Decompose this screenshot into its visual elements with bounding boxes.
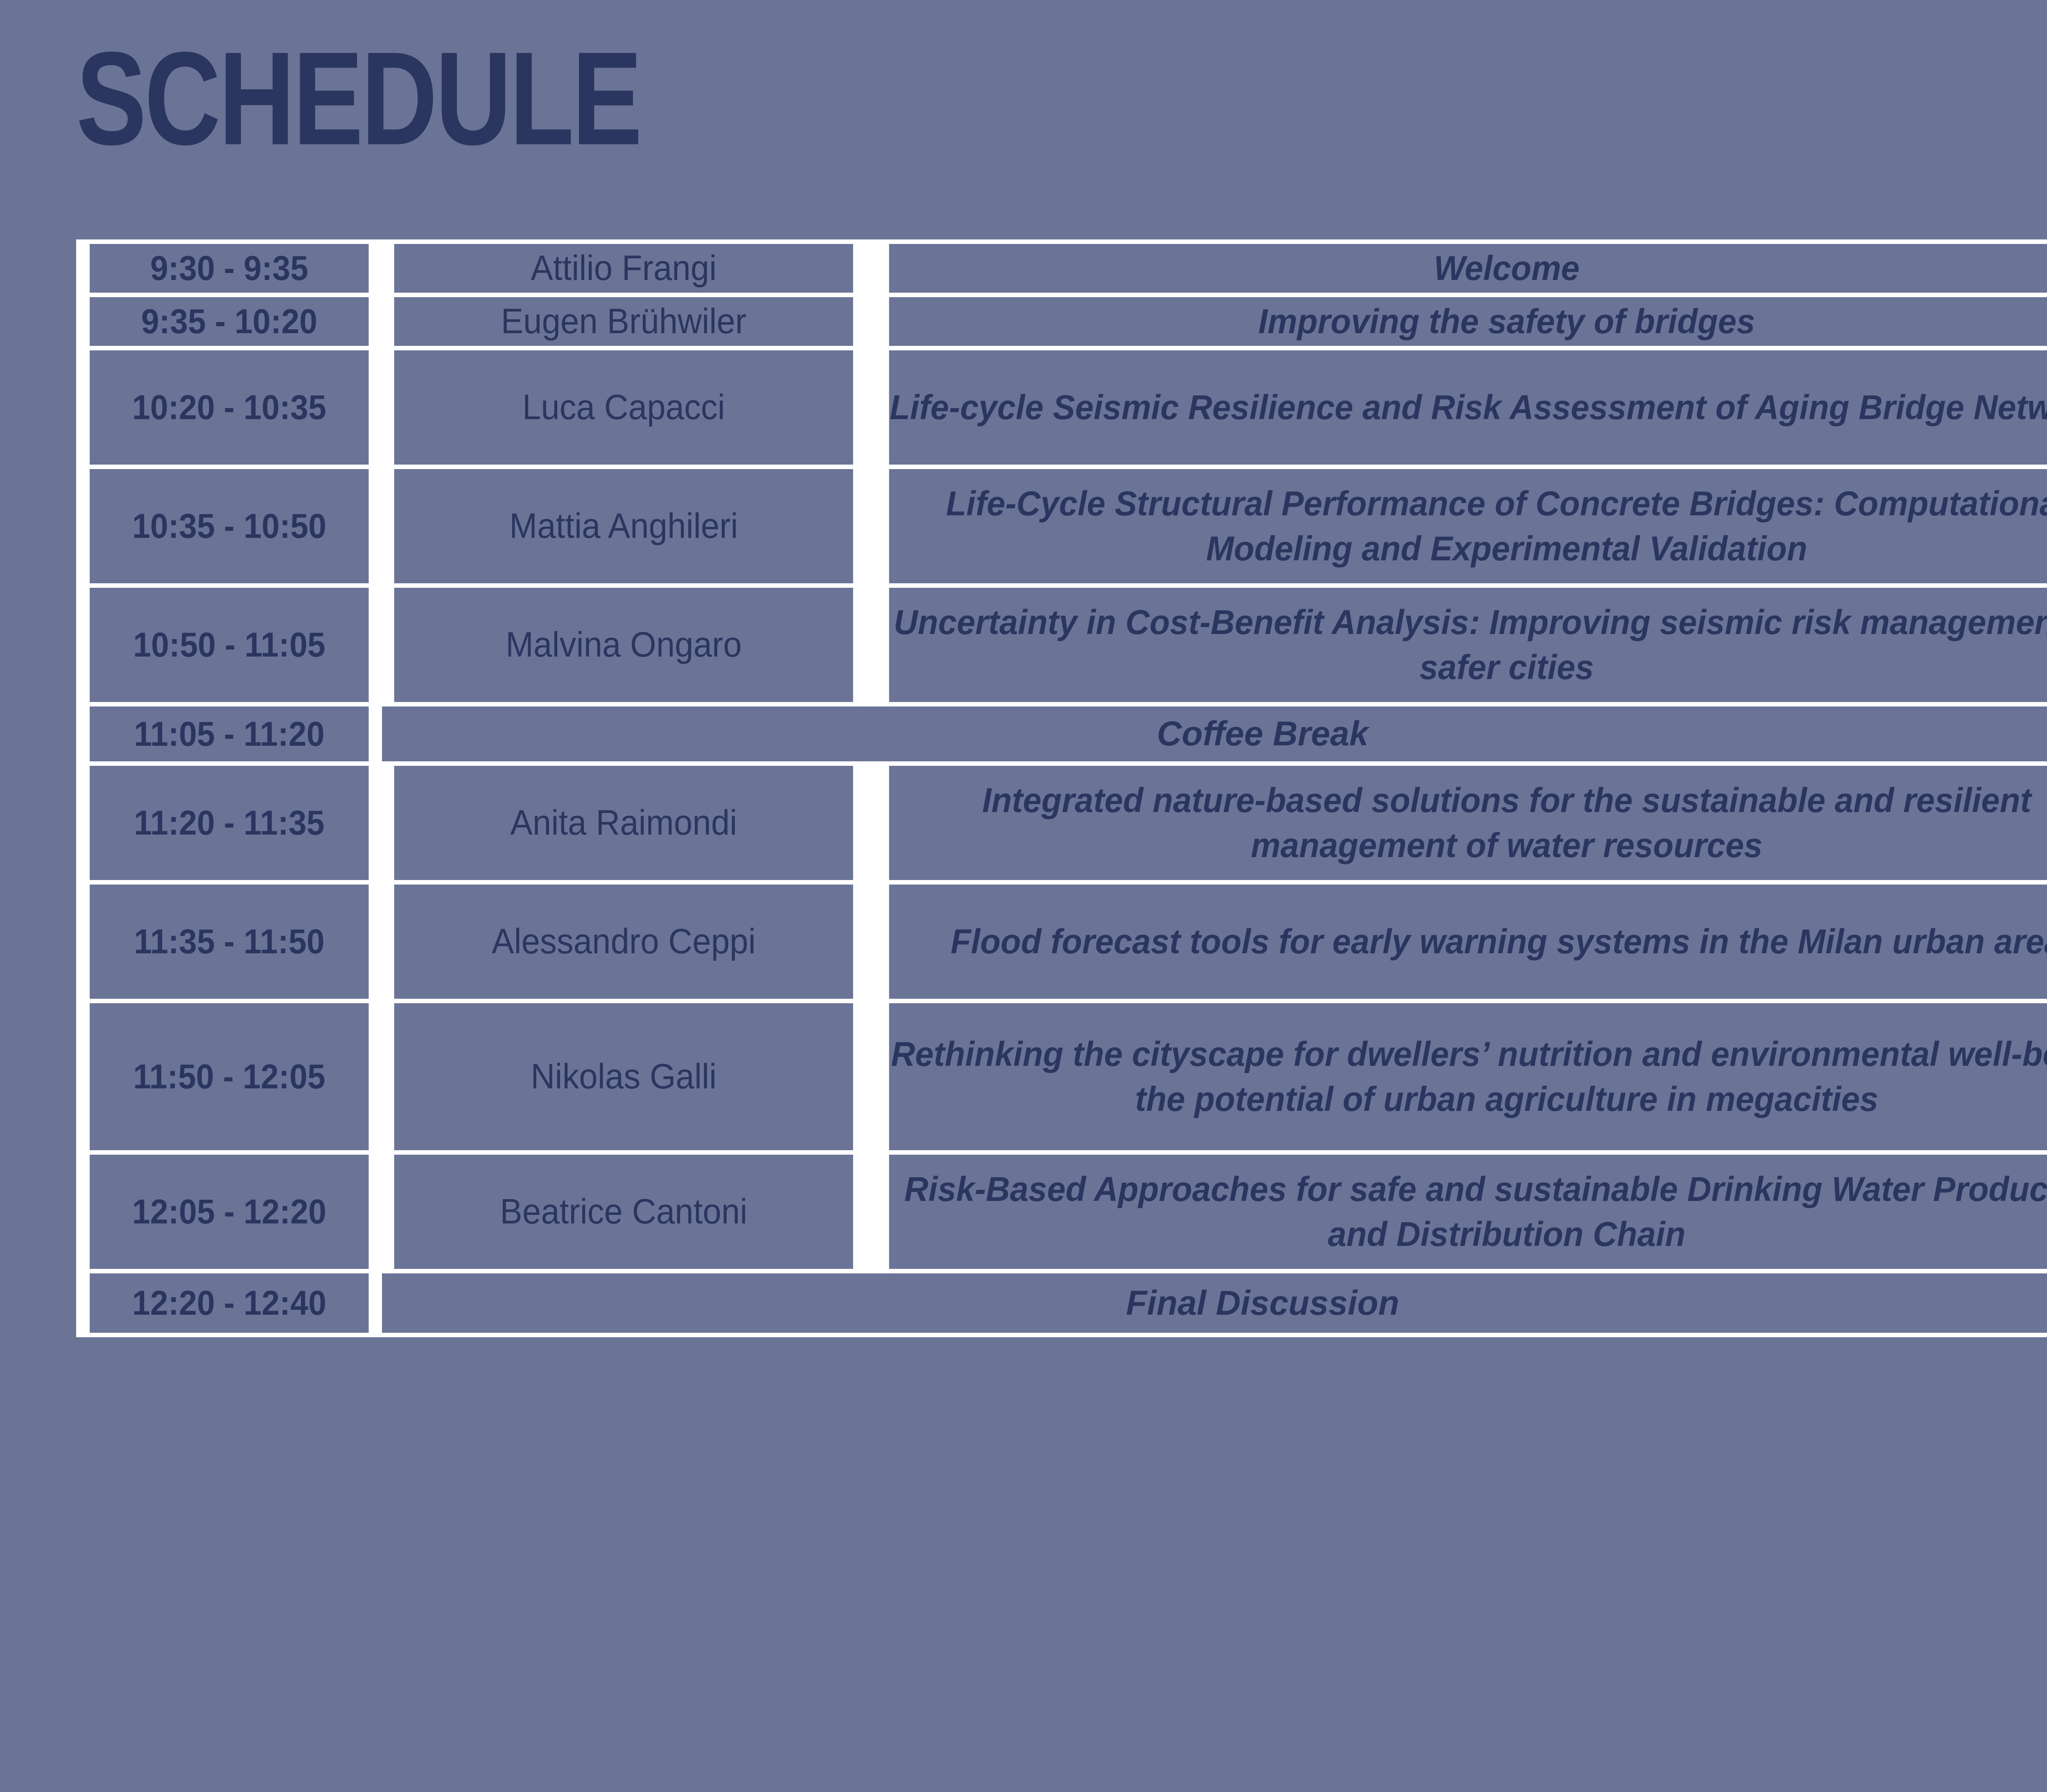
cell-topic: Life-Cycle Structural Performance of Con… (889, 469, 2047, 588)
cell-time: 11:05 - 11:20 (90, 706, 373, 766)
cell-time: 11:50 - 12:05 (90, 1003, 373, 1155)
cell-speaker: Mattia Anghileri (394, 469, 858, 588)
cell-time: 12:05 - 12:20 (90, 1155, 373, 1273)
cell-speaker: Anita Raimondi (394, 766, 858, 885)
table-row: 12:20 - 12:40Final Discussion (81, 1273, 2047, 1333)
page-title: SCHEDULE (76, 32, 640, 165)
schedule-table: 9:30 - 9:35Attilio FrangiWelcome9:35 - 1… (76, 239, 2047, 1337)
cell-time: 11:20 - 11:35 (90, 766, 373, 885)
cell-speaker: Luca Capacci (394, 350, 858, 469)
cell-topic: Integrated nature-based solutions for th… (889, 766, 2047, 885)
cell-speaker: Attilio Frangi (394, 244, 858, 297)
table-row: 11:05 - 11:20Coffee Break (81, 706, 2047, 766)
cell-time: 10:50 - 11:05 (90, 588, 373, 706)
table-row: 11:35 - 11:50Alessandro CeppiFlood forec… (81, 885, 2047, 1003)
cell-topic: Risk-Based Approaches for safe and susta… (889, 1155, 2047, 1273)
cell-time: 11:35 - 11:50 (90, 885, 373, 1003)
cell-speaker: Malvina Ongaro (394, 588, 858, 706)
table-row: 10:50 - 11:05Malvina OngaroUncertainty i… (81, 588, 2047, 706)
cell-speaker: Eugen Brühwiler (394, 297, 858, 350)
cell-time: 10:20 - 10:35 (90, 350, 373, 469)
cell-time: 10:35 - 10:50 (90, 469, 373, 588)
cell-time: 9:35 - 10:20 (90, 297, 373, 350)
cell-speaker: Nikolas Galli (394, 1003, 858, 1155)
schedule-page: SCHEDULE 9:30 - 9:35Attilio FrangiWelcom… (0, 0, 2047, 1792)
table-row: 11:20 - 11:35Anita RaimondiIntegrated na… (81, 766, 2047, 885)
table-row: 12:05 - 12:20Beatrice CantoniRisk-Based … (81, 1155, 2047, 1273)
table-row: 10:20 - 10:35Luca CapacciLife-cycle Seis… (81, 350, 2047, 469)
cell-topic: Flood forecast tools for early warning s… (889, 885, 2047, 1003)
table-row: 10:35 - 10:50Mattia AnghileriLife-Cycle … (81, 469, 2047, 588)
cell-speaker: Beatrice Cantoni (394, 1155, 858, 1273)
cell-topic: Improving the safety of bridges (889, 297, 2047, 350)
cell-topic-merged: Final Discussion (382, 1273, 2047, 1333)
cell-topic: Rethinking the cityscape for dwellers’ n… (889, 1003, 2047, 1155)
cell-speaker: Alessandro Ceppi (394, 885, 858, 1003)
table-row: 9:35 - 10:20Eugen BrühwilerImproving the… (81, 297, 2047, 350)
cell-topic: Life-cycle Seismic Resilience and Risk A… (889, 350, 2047, 469)
cell-topic: Uncertainty in Cost-Benefit Analysis: Im… (889, 588, 2047, 706)
table-row: 9:30 - 9:35Attilio FrangiWelcome (81, 244, 2047, 297)
table-row: 11:50 - 12:05Nikolas GalliRethinking the… (81, 1003, 2047, 1155)
cell-time: 9:30 - 9:35 (90, 244, 373, 297)
cell-time: 12:20 - 12:40 (90, 1273, 373, 1333)
cell-topic-merged: Coffee Break (382, 706, 2047, 766)
cell-topic: Welcome (889, 244, 2047, 297)
